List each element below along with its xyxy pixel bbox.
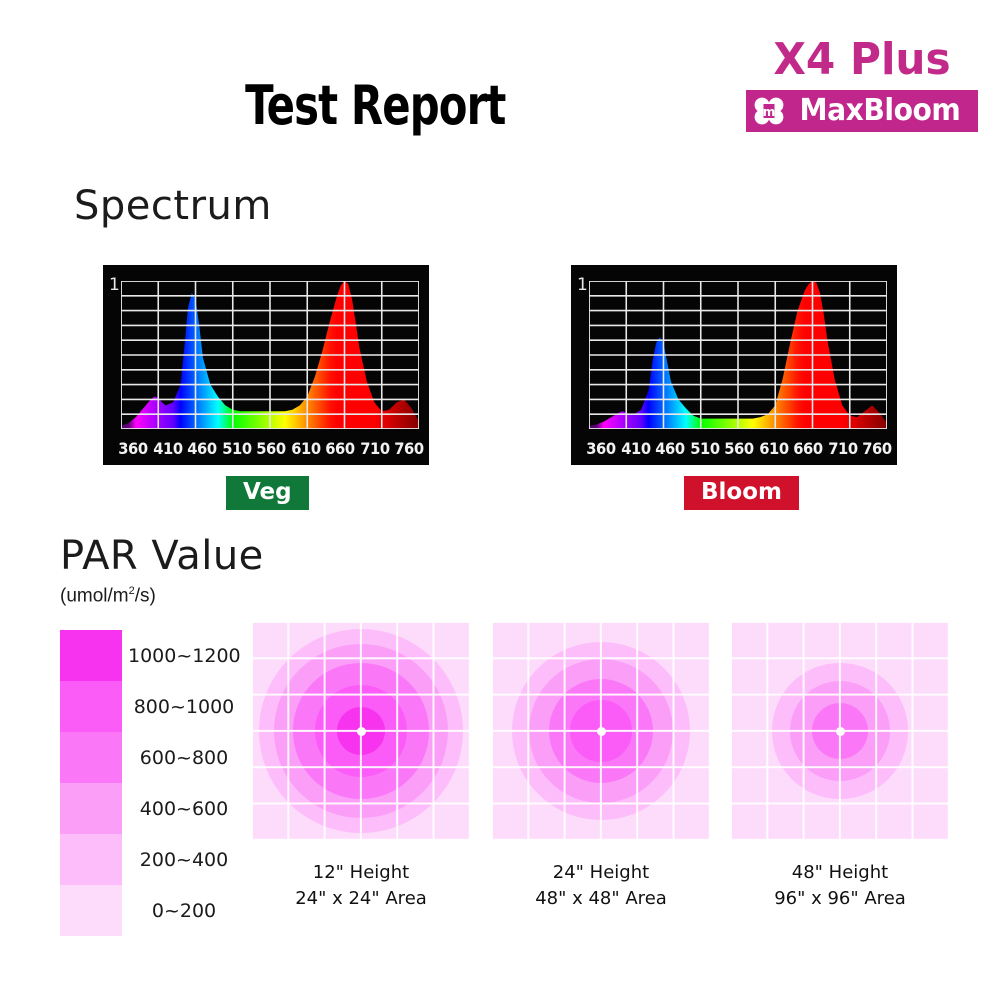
par-heatmap bbox=[731, 622, 949, 840]
par-map-height-label: 48" Height bbox=[731, 860, 949, 886]
par-map-caption: 48" Height 96" x 96" Area bbox=[731, 860, 949, 912]
par-map-12in: 12" Height 24" x 24" Area bbox=[252, 622, 470, 912]
legend-row: 200~400 bbox=[60, 834, 240, 885]
par-map-24in: 24" Height 48" x 48" Area bbox=[492, 622, 710, 912]
par-map-area-label: 24" x 24" Area bbox=[252, 886, 470, 912]
spectrum-tick-760: 760 bbox=[862, 439, 891, 458]
legend-row: 600~800 bbox=[60, 732, 240, 783]
brand-name-label: MaxBloom bbox=[792, 96, 967, 126]
legend-row: 0~200 bbox=[60, 885, 240, 936]
legend-row: 400~600 bbox=[60, 783, 240, 834]
legend-color-swatch bbox=[60, 834, 122, 885]
legend-range-label: 400~600 bbox=[122, 798, 240, 820]
spectrum-tick-460: 460 bbox=[655, 439, 684, 458]
legend-color-swatch bbox=[60, 630, 122, 681]
par-map-center-marker bbox=[597, 727, 606, 736]
par-map-area-label: 96" x 96" Area bbox=[731, 886, 949, 912]
par-map-center-marker bbox=[357, 727, 366, 736]
spectrum-tick-510: 510 bbox=[222, 439, 251, 458]
spectrum-y-axis-label: 1 bbox=[577, 277, 588, 294]
spectrum-tick-560: 560 bbox=[724, 439, 753, 458]
spectrum-chart-bloom: 1 360410460510560610660710760 bbox=[571, 265, 897, 465]
spectrum-tick-410: 410 bbox=[153, 439, 182, 458]
spectrum-tick-710: 710 bbox=[828, 439, 857, 458]
par-map-height-label: 12" Height bbox=[252, 860, 470, 886]
par-map-caption: 24" Height 48" x 48" Area bbox=[492, 860, 710, 912]
legend-color-swatch bbox=[60, 732, 122, 783]
spectrum-tick-360: 360 bbox=[118, 439, 147, 458]
product-model-label: X4 Plus bbox=[751, 38, 974, 82]
spectrum-tick-660: 660 bbox=[325, 439, 354, 458]
spectrum-x-tick-labels: 360410460510560610660710760 bbox=[117, 435, 425, 461]
spectrum-tick-610: 610 bbox=[759, 439, 788, 458]
spectrum-tick-610: 610 bbox=[291, 439, 320, 458]
par-map-height-label: 24" Height bbox=[492, 860, 710, 886]
spectrum-y-axis-label: 1 bbox=[109, 277, 120, 294]
spectrum-tick-710: 710 bbox=[360, 439, 389, 458]
legend-color-swatch bbox=[60, 681, 122, 732]
spectrum-tick-510: 510 bbox=[690, 439, 719, 458]
par-map-area-label: 48" x 48" Area bbox=[492, 886, 710, 912]
par-legend: 1000~1200800~1000600~800400~600200~4000~… bbox=[60, 630, 240, 936]
legend-color-swatch bbox=[60, 783, 122, 834]
legend-range-label: 200~400 bbox=[122, 849, 240, 871]
par-units-suffix: /s) bbox=[135, 585, 156, 606]
test-report-page: Test Report X4 Plus m MaxBloom Spectrum bbox=[0, 0, 1000, 1000]
legend-range-label: 600~800 bbox=[122, 747, 240, 769]
par-heatmap bbox=[252, 622, 470, 840]
par-units-prefix: (umol/m bbox=[60, 585, 129, 606]
spectrum-tick-410: 410 bbox=[621, 439, 650, 458]
legend-range-label: 0~200 bbox=[122, 900, 240, 922]
svg-text:m: m bbox=[763, 105, 776, 119]
par-map-center-marker bbox=[836, 727, 845, 736]
four-petal-flower-icon: m bbox=[752, 95, 786, 127]
brand-logo-bar: m MaxBloom bbox=[746, 90, 978, 132]
legend-color-swatch bbox=[60, 885, 122, 936]
spectrum-tick-460: 460 bbox=[187, 439, 216, 458]
brand-block: X4 Plus m MaxBloom bbox=[746, 38, 978, 132]
par-heatmap bbox=[492, 622, 710, 840]
spectrum-chart-veg: 1 360410460510560610660710760 bbox=[103, 265, 429, 465]
par-map-caption: 12" Height 24" x 24" Area bbox=[252, 860, 470, 912]
status-badge-veg: Veg bbox=[226, 476, 309, 510]
legend-range-label: 1000~1200 bbox=[122, 645, 241, 667]
par-units-label: (umol/m2/s) bbox=[60, 585, 156, 607]
spectrum-tick-660: 660 bbox=[793, 439, 822, 458]
legend-range-label: 800~1000 bbox=[122, 696, 240, 718]
par-value-heading: PAR Value bbox=[60, 533, 264, 579]
spectrum-heading: Spectrum bbox=[74, 183, 272, 229]
legend-row: 1000~1200 bbox=[60, 630, 240, 681]
spectrum-tick-360: 360 bbox=[586, 439, 615, 458]
spectrum-x-tick-labels: 360410460510560610660710760 bbox=[585, 435, 893, 461]
spectrum-tick-760: 760 bbox=[394, 439, 423, 458]
spectrum-tick-560: 560 bbox=[256, 439, 285, 458]
status-badge-bloom: Bloom bbox=[684, 476, 799, 510]
legend-row: 800~1000 bbox=[60, 681, 240, 732]
par-map-48in: 48" Height 96" x 96" Area bbox=[731, 622, 949, 912]
